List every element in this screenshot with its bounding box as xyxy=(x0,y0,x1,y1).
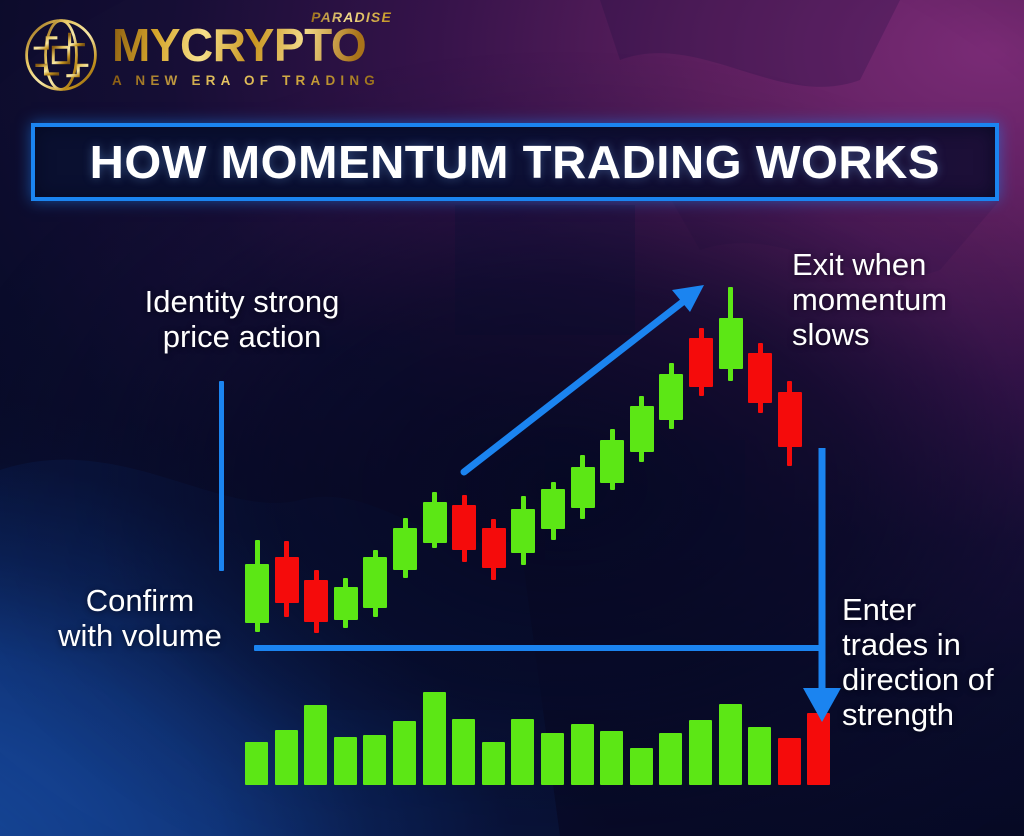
infographic-canvas: MYCRYPTO PARADISE A NEW ERA OF TRADING H… xyxy=(0,0,1024,836)
uptrend-arrow xyxy=(464,285,704,472)
annotation-identify-price-action: Identity strong price action xyxy=(108,284,376,354)
exit-down-arrow xyxy=(803,448,841,722)
annotation-exit-momentum: Exit when momentum slows xyxy=(792,247,1022,352)
annotation-enter-trades: Enter trades in direction of strength xyxy=(842,592,1024,732)
annotation-confirm-volume: Confirm with volume xyxy=(22,583,258,653)
